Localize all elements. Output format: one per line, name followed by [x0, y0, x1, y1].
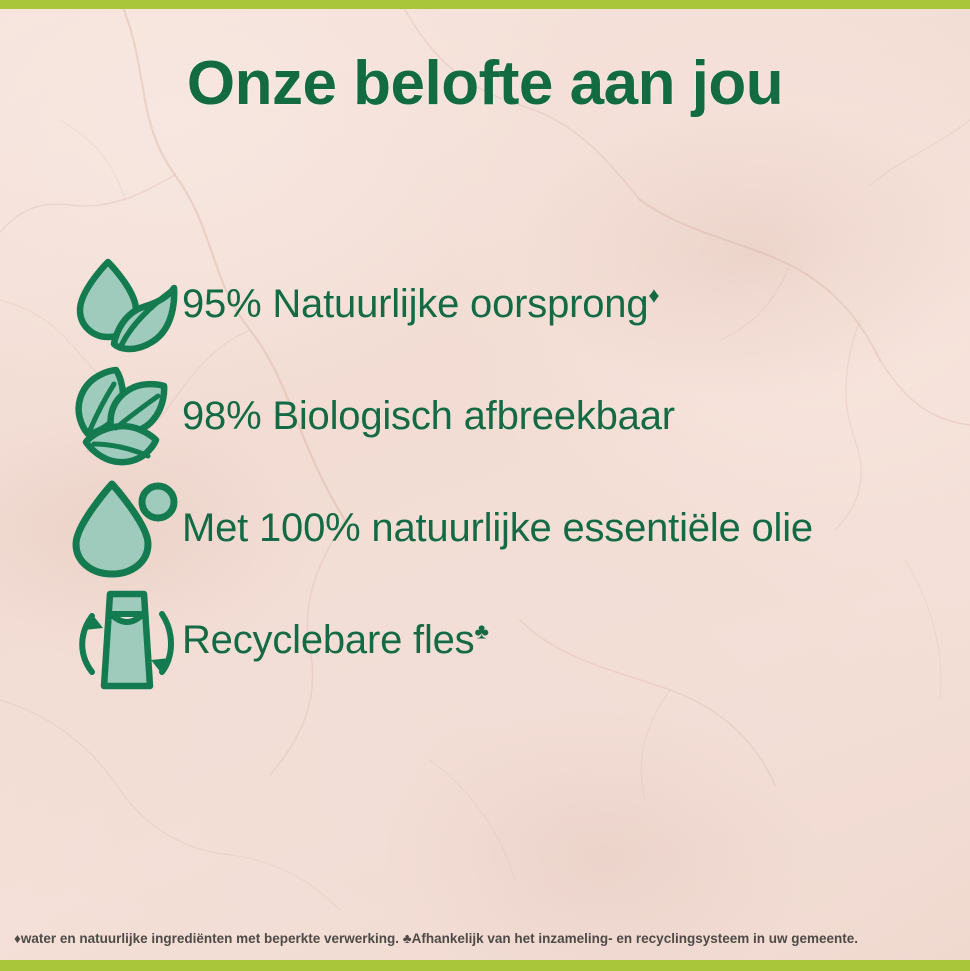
- drop-with-bubble-icon: [70, 476, 182, 580]
- benefit-text-3: Recyclebare fles: [182, 618, 474, 662]
- benefit-item-biodegradable: 98% Biologisch afbreekbaar: [0, 360, 970, 472]
- benefit-text-2: Met 100% natuurlijke essentiële olie: [182, 506, 813, 550]
- footnote-text: ♦water en natuurlijke ingrediënten met b…: [14, 929, 930, 949]
- benefit-label: Recyclebare fles♣: [182, 618, 489, 662]
- brand-band-bottom: [0, 960, 970, 971]
- benefit-label: Met 100% natuurlijke essentiële olie: [182, 506, 813, 550]
- water-drop-leaf-icon: [70, 252, 182, 356]
- benefit-label: 95% Natuurlijke oorsprong♦: [182, 282, 659, 326]
- page-title: Onze belofte aan jou: [0, 48, 970, 119]
- benefit-item-essential-oil: Met 100% natuurlijke essentiële olie: [0, 472, 970, 584]
- brand-band-top: [0, 0, 970, 9]
- benefit-label: 98% Biologisch afbreekbaar: [182, 394, 675, 438]
- benefit-item-recyclable-bottle: Recyclebare fles♣: [0, 584, 970, 696]
- benefit-footnote-mark-3: ♣: [474, 619, 488, 644]
- benefit-text-1: 98% Biologisch afbreekbaar: [182, 394, 675, 438]
- benefits-list: 95% Natuurlijke oorsprong♦: [0, 248, 970, 696]
- benefit-item-natural-origin: 95% Natuurlijke oorsprong♦: [0, 248, 970, 360]
- promo-card: Onze belofte aan jou 95% Natuurlijke oor…: [0, 0, 970, 971]
- recyclable-bottle-icon: [70, 588, 182, 692]
- three-leaves-recycle-icon: [70, 364, 182, 468]
- benefit-text-0: 95% Natuurlijke oorsprong: [182, 282, 648, 326]
- benefit-footnote-mark-0: ♦: [648, 283, 659, 308]
